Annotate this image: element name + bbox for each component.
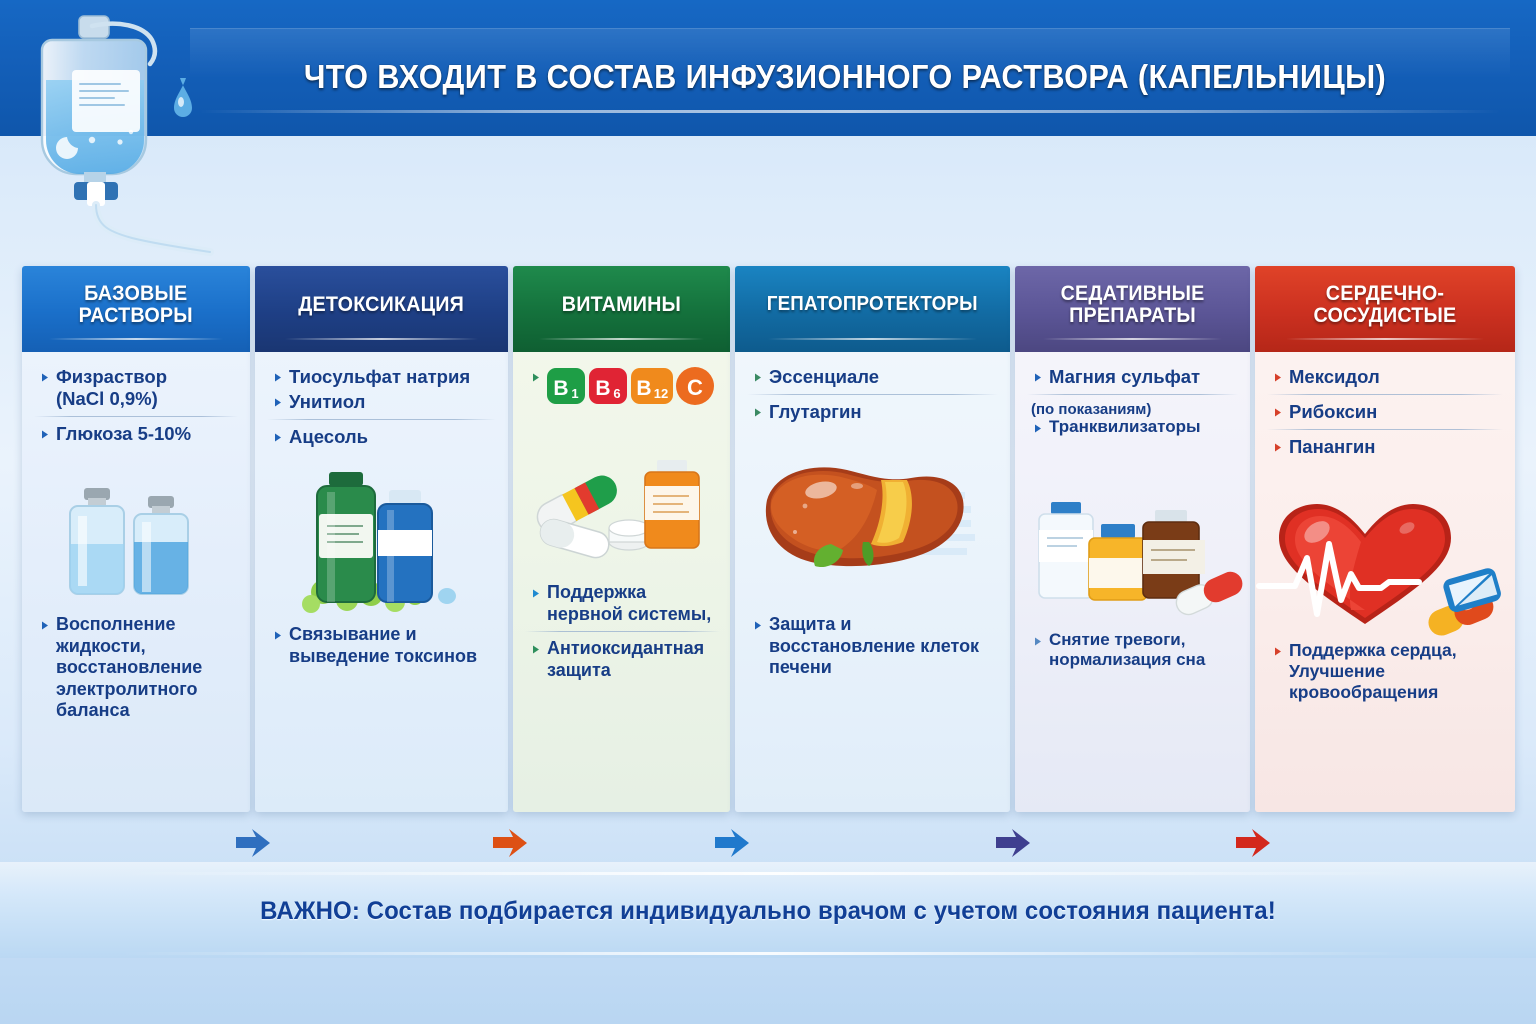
- arrow-bullet-icon: [523, 585, 540, 602]
- list-item-label: Магния сульфат: [1049, 366, 1200, 388]
- green-and-blue-bottles-icon: [255, 456, 508, 616]
- description-vitamins: Поддержка нервной системы, Антиоксидантн…: [523, 582, 722, 684]
- description-base-solutions: Восполнение жидкости, восстановление эле…: [32, 614, 242, 725]
- svg-text:1: 1: [571, 386, 578, 401]
- svg-text:6: 6: [613, 386, 620, 401]
- arrow-bullet-icon: [745, 404, 762, 421]
- divider: [1267, 394, 1503, 395]
- divider: [1267, 429, 1503, 430]
- arrow-bullet-icon: [1025, 633, 1042, 650]
- arrow-bullet-icon: [1265, 643, 1282, 660]
- divider: [747, 394, 998, 395]
- column-title-base-solutions: БАЗОВЫЕРАСТВОРЫ: [79, 283, 193, 328]
- column-title-vitamins: ВИТАМИНЫ: [562, 294, 681, 316]
- svg-text:B: B: [595, 377, 610, 400]
- list-item-label: Эссенциале: [769, 366, 879, 388]
- description-row: Восполнение жидкости, восстановление эле…: [32, 614, 242, 722]
- arrow-bullet-icon: [265, 394, 282, 411]
- description-hepatoprotectors: Защита и восстановление клеток печени: [745, 614, 1002, 682]
- iv-drip-bag-icon: [24, 12, 224, 262]
- two-vials-icon: [22, 482, 250, 602]
- description-row: Снятие тревоги, нормализация сна: [1025, 630, 1242, 671]
- column-header-cardiovascular: СЕРДЕЧНО-СОСУДИСТЫЕ: [1255, 266, 1515, 352]
- arrow-bullet-icon: [1265, 369, 1282, 386]
- list-item[interactable]: Глюкоза 5-10%: [32, 423, 240, 445]
- page-title: ЧТО ВХОДИТ В СОСТАВ ИНФУЗИОННОГО РАСТВОР…: [236, 58, 1454, 96]
- description-cardiovascular: Поддержка сердца, Улучшение кровообращен…: [1265, 640, 1507, 706]
- description-text: Связывание и выведение токсинов: [289, 624, 500, 667]
- arrow-base-to-detox: [236, 826, 282, 860]
- list-item[interactable]: Панангин: [1265, 436, 1505, 458]
- description-text: Восполнение жидкости, восстановление эле…: [56, 614, 242, 722]
- list-item-label: Рибоксин: [1289, 401, 1377, 423]
- infographic-canvas: ЧТО ВХОДИТ В СОСТАВ ИНФУЗИОННОГО РАСТВОР…: [0, 0, 1536, 1024]
- description-text: Поддержка нервной системы,: [547, 582, 722, 625]
- description-sedatives: Снятие тревоги, нормализация сна: [1025, 630, 1242, 674]
- arrow-bullet-icon: [1265, 404, 1282, 421]
- svg-text:B: B: [553, 377, 568, 400]
- column-vitamins[interactable]: ВИТАМИНЫ B 1 B 6: [513, 266, 730, 812]
- arrow-detox-to-vitamins: [493, 826, 539, 860]
- column-title-detoxication: ДЕТОКСИКАЦИЯ: [299, 294, 465, 316]
- pill-bottles-and-capsule-icon: [1015, 474, 1250, 624]
- svg-text:B: B: [636, 377, 651, 400]
- arrow-bullet-icon: [265, 429, 282, 446]
- footer-divider-top: [120, 872, 1416, 875]
- svg-text:C: C: [687, 375, 703, 400]
- description-detoxication: Связывание и выведение токсинов: [265, 624, 500, 670]
- list-item[interactable]: Эссенциале: [745, 366, 1000, 388]
- arrow-bullet-icon: [745, 617, 762, 634]
- capsules-and-bottle-icon: [513, 424, 730, 574]
- arrow-bullet-icon: [32, 617, 49, 634]
- column-header-detoxication: ДЕТОКСИКАЦИЯ: [255, 266, 508, 352]
- column-sedatives[interactable]: СЕДАТИВНЫЕПРЕПАРАТЫ Магния сульфат (по п…: [1015, 266, 1250, 812]
- list-item[interactable]: Транквилизаторы: [1025, 417, 1240, 437]
- column-detoxication[interactable]: ДЕТОКСИКАЦИЯ Тиосульфат натрия Унитиол: [255, 266, 508, 812]
- list-item-label: Глутаргин: [769, 401, 862, 423]
- description-text: Снятие тревоги, нормализация сна: [1049, 630, 1242, 671]
- arrow-vitamins-to-hepato: [715, 826, 761, 860]
- list-item[interactable]: Физраствор(NaCl 0,9%): [32, 366, 240, 410]
- list-item[interactable]: Мексидол: [1265, 366, 1505, 388]
- column-base-solutions[interactable]: БАЗОВЫЕРАСТВОРЫ Физраствор(NaCl 0,9%) Гл…: [22, 266, 250, 812]
- column-body-hepatoprotectors: Эссенциале Глутаргин: [735, 352, 1010, 812]
- column-title-cardiovascular: СЕРДЕЧНО-СОСУДИСТЫЕ: [1314, 283, 1457, 328]
- description-row: Связывание и выведение токсинов: [265, 624, 500, 667]
- divider: [1027, 394, 1238, 395]
- arrow-bullet-icon: [32, 426, 49, 443]
- list-item-label: Транквилизаторы: [1049, 417, 1201, 437]
- list-item-label: Тиосульфат натрия: [289, 366, 470, 388]
- description-text: Защита и восстановление клеток печени: [769, 614, 1002, 679]
- column-cardiovascular[interactable]: СЕРДЕЧНО-СОСУДИСТЫЕ Мексидол Рибоксин: [1255, 266, 1515, 812]
- description-text: Антиоксидантная защита: [547, 638, 722, 681]
- description-row: Поддержка нервной системы,: [523, 582, 722, 625]
- footer-note: ВАЖНО: Состав подбирается индивидуально …: [31, 897, 1506, 926]
- heart-with-ecg-icon: [1255, 492, 1515, 652]
- description-row: Антиоксидантная защита: [523, 638, 722, 681]
- arrow-bullet-icon: [265, 627, 282, 644]
- arrow-hepato-to-sedative: [996, 826, 1042, 860]
- arrow-bullet-icon: [1025, 420, 1042, 437]
- list-item[interactable]: Тиосульфат натрия: [265, 366, 498, 388]
- column-body-detoxication: Тиосульфат натрия Унитиол Ацесоль: [255, 352, 508, 812]
- liver-icon: [735, 446, 1010, 606]
- vitamin-badge-row: B 1 B 6 B 12 C: [523, 366, 720, 411]
- list-item-label: Мексидол: [1289, 366, 1380, 388]
- column-header-sedatives: СЕДАТИВНЫЕПРЕПАРАТЫ: [1015, 266, 1250, 352]
- list-item[interactable]: Рибоксин: [1265, 401, 1505, 423]
- divider: [267, 419, 496, 420]
- arrow-bullet-icon: [1265, 439, 1282, 456]
- column-body-base-solutions: Физраствор(NaCl 0,9%) Глюкоза 5-10%: [22, 352, 250, 812]
- svg-text:12: 12: [654, 386, 668, 401]
- column-title-sedatives: СЕДАТИВНЫЕПРЕПАРАТЫ: [1061, 283, 1205, 328]
- list-item-label: Ацесоль: [289, 426, 368, 448]
- column-header-base-solutions: БАЗОВЫЕРАСТВОРЫ: [22, 266, 250, 352]
- column-header-vitamins: ВИТАМИНЫ: [513, 266, 730, 352]
- list-item-label: Физраствор(NaCl 0,9%): [56, 366, 167, 410]
- divider: [525, 631, 720, 632]
- column-header-hepatoprotectors: ГЕПАТОПРОТЕКТОРЫ: [735, 266, 1010, 352]
- column-body-cardiovascular: Мексидол Рибоксин Панангин: [1255, 352, 1515, 812]
- list-item[interactable]: Ацесоль: [265, 426, 498, 448]
- arrow-sedative-to-cardio: [1236, 826, 1282, 860]
- vitamin-badges: B 1 B 6 B 12 C: [547, 366, 719, 411]
- list-item-label: Глюкоза 5-10%: [56, 423, 191, 445]
- column-title-hepatoprotectors: ГЕПАТОПРОТЕКТОРЫ: [767, 294, 978, 315]
- category-columns: БАЗОВЫЕРАСТВОРЫ Физраствор(NaCl 0,9%) Гл…: [0, 266, 1536, 826]
- list-item-label: Панангин: [1289, 436, 1375, 458]
- list-item-label: Унитиол: [289, 391, 365, 413]
- arrow-bullet-icon: [745, 369, 762, 386]
- column-body-sedatives: Магния сульфат (по показаниям) Транквили…: [1015, 352, 1250, 812]
- arrow-bullet-icon: [32, 369, 49, 386]
- footer-divider-bottom: [120, 952, 1416, 955]
- arrow-bullet-icon: [523, 641, 540, 658]
- description-text: Поддержка сердца, Улучшение кровообращен…: [1289, 640, 1507, 703]
- arrow-bullet-icon: [523, 369, 540, 386]
- header-shine-line: [200, 110, 1500, 113]
- arrow-bullet-icon: [1025, 369, 1042, 386]
- divider: [34, 416, 238, 417]
- list-item[interactable]: Глутаргин: [745, 401, 1000, 423]
- column-body-vitamins: B 1 B 6 B 12 C: [513, 352, 730, 812]
- list-item[interactable]: Магния сульфат: [1025, 366, 1240, 388]
- column-hepatoprotectors[interactable]: ГЕПАТОПРОТЕКТОРЫ Эссенциале Глутаргин: [735, 266, 1010, 812]
- description-row: Поддержка сердца, Улучшение кровообращен…: [1265, 640, 1507, 703]
- description-row: Защита и восстановление клеток печени: [745, 614, 1002, 679]
- sedatives-note: (по показаниям): [1025, 401, 1240, 418]
- list-item[interactable]: Унитиол: [265, 391, 498, 413]
- arrow-bullet-icon: [265, 369, 282, 386]
